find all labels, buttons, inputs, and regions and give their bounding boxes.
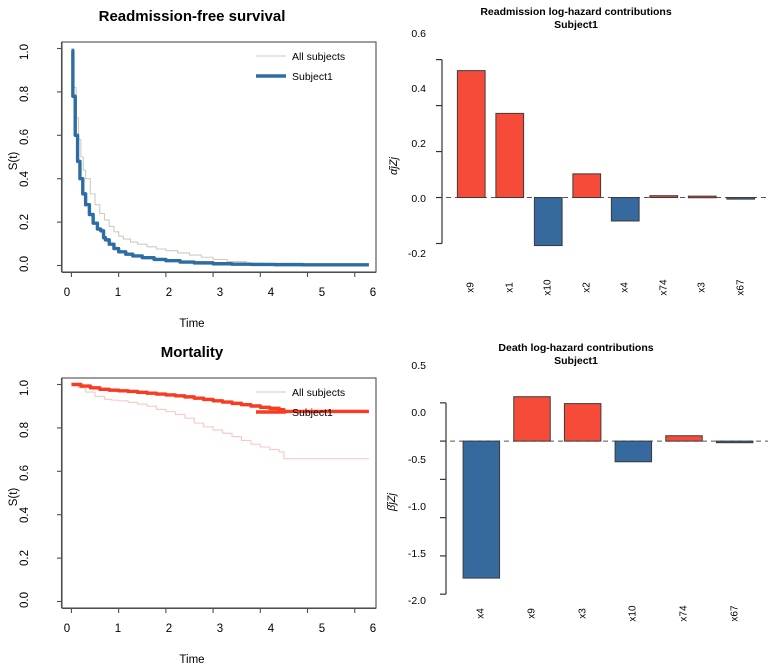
xtick-label: x10 — [543, 268, 554, 308]
panel-mortality-survival: Mortality 0.0 0.2 0.4 0.6 0.8 1.0 S(t) 0… — [0, 336, 384, 672]
panel-readmission-bars: Readmission log-hazard contributions Sub… — [384, 0, 768, 336]
xtick-label: x74 — [679, 594, 690, 634]
xtick-label: x74 — [658, 268, 669, 308]
legend-label-subject1: Subject1 — [292, 71, 333, 83]
panel-readmission-survival: Readmission-free survival 0.0 0.2 0.4 0.… — [0, 0, 384, 336]
panel-death-bars: Death log-hazard contributions Subject1 … — [384, 336, 768, 672]
legend-label-all-subjects: All subjects — [292, 51, 345, 63]
legend-label-subject1: Subject1 — [292, 407, 333, 419]
xtick-label: x3 — [697, 268, 708, 308]
death-bars-plot — [384, 336, 768, 672]
xtick-label: x9 — [527, 594, 538, 634]
xtick-label: x4 — [476, 594, 487, 634]
xtick-label: x67 — [729, 594, 740, 634]
xtick-label: x67 — [735, 268, 746, 308]
readmission-bars-plot — [384, 0, 768, 336]
xtick-label: x1 — [504, 268, 515, 308]
figure-root: Readmission-free survival 0.0 0.2 0.4 0.… — [0, 0, 768, 672]
xtick-label: x2 — [581, 268, 592, 308]
xtick-label: x10 — [628, 594, 639, 634]
xtick-label: x3 — [577, 594, 588, 634]
legend-label-all-subjects: All subjects — [292, 387, 345, 399]
xtick-label: x9 — [466, 268, 477, 308]
xtick-label: x4 — [620, 268, 631, 308]
